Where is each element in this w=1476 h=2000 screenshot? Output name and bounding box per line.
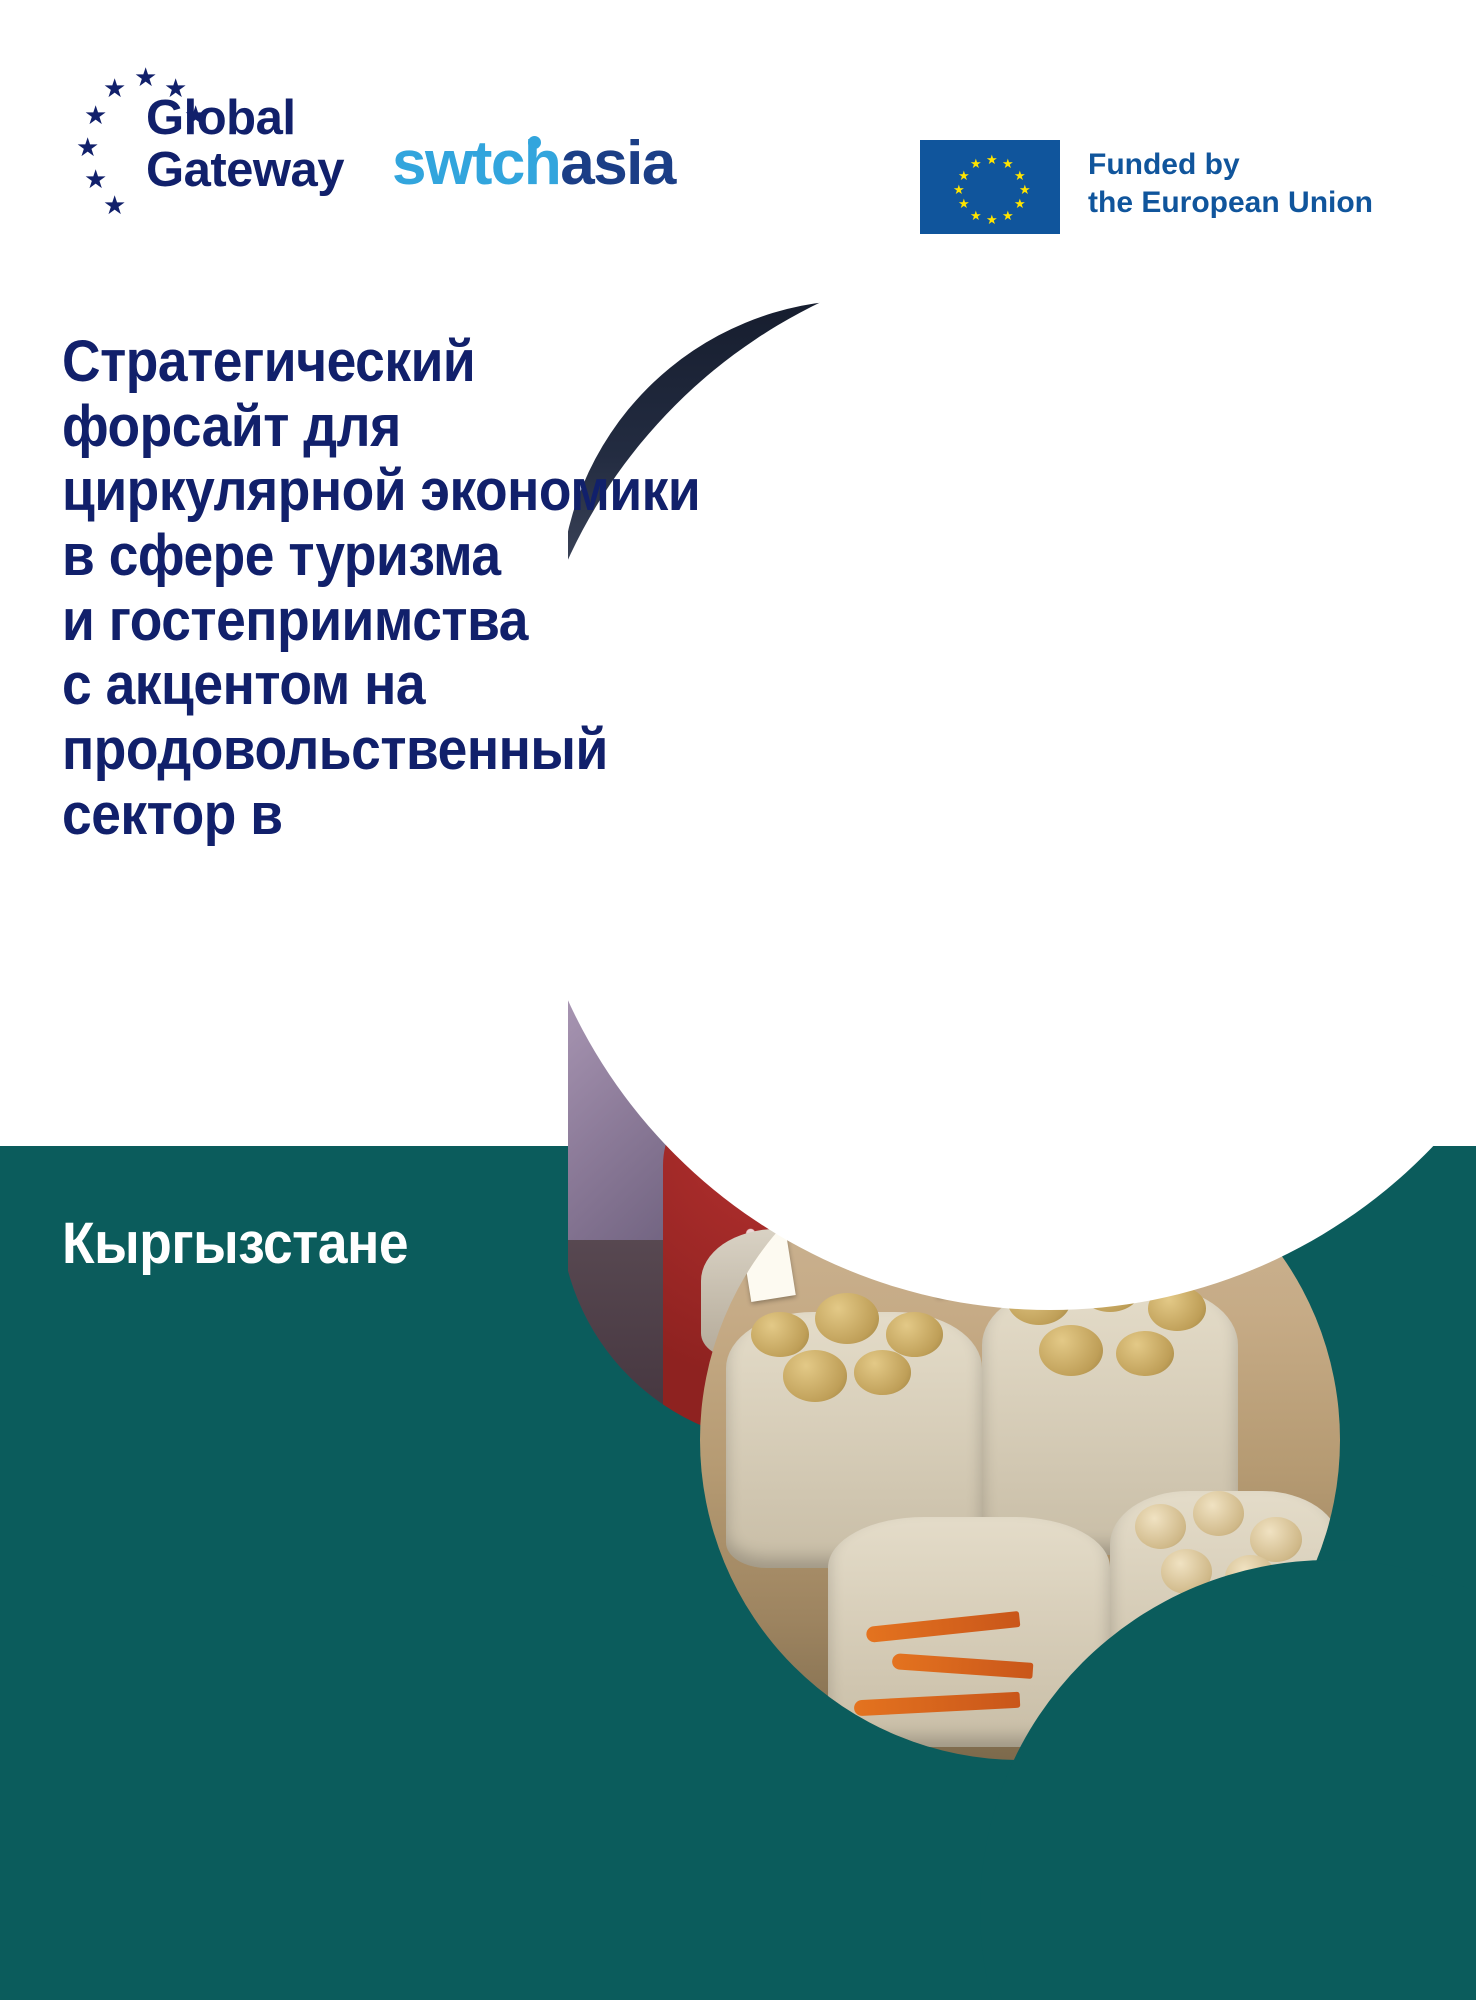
eu-funding-text: Funded by the European Union [1088,146,1373,221]
header-logo-bar: ★ ★ ★ ★ ★ ★ ★ ★ Global Gateway swtchasia… [0,0,1476,260]
switchasia-asia: asia [560,129,675,198]
eu-funding-line1: Funded by [1088,148,1240,181]
global-gateway-line2: Gateway [146,143,344,197]
cover-page: ★ ★ ★ ★ ★ ★ ★ ★ Global Gateway swtchasia… [0,0,1476,2000]
title-line-1: Стратегический [62,330,706,395]
switchasia-logo: swtchasia [392,128,675,199]
global-gateway-line1: Global [146,91,295,145]
title-line-3: циркулярной экономики [62,459,706,524]
global-gateway-logo: ★ ★ ★ ★ ★ ★ ★ ★ Global Gateway [88,62,388,212]
title-line-8: сектор в [62,783,706,848]
title-line-9: Кыргызстане [62,1212,706,1277]
switchasia-sw: sw [392,129,472,198]
title-line-6: с акцентом на [62,653,706,718]
title-line-4: в сфере туризма [62,524,706,589]
title-line-7: продовольственный [62,718,706,783]
page-title-white: Кыргызстане [62,1212,706,1277]
i-dot-icon [528,136,541,149]
title-line-2: форсайт для [62,395,706,460]
global-gateway-wordmark: Global Gateway [146,92,344,197]
eu-funding-logo: ★ ★ ★ ★ ★ ★ ★ ★ ★ ★ ★ ★ Funded by the Eu… [920,140,1373,234]
switchasia-tch: tch [472,129,561,198]
title-line-5: и гостеприимства [62,589,706,654]
page-title-navy: Стратегический форсайт для циркулярной э… [62,330,706,847]
eu-funding-line2: the European Union [1088,186,1373,219]
eu-flag-icon: ★ ★ ★ ★ ★ ★ ★ ★ ★ ★ ★ ★ [920,140,1060,234]
